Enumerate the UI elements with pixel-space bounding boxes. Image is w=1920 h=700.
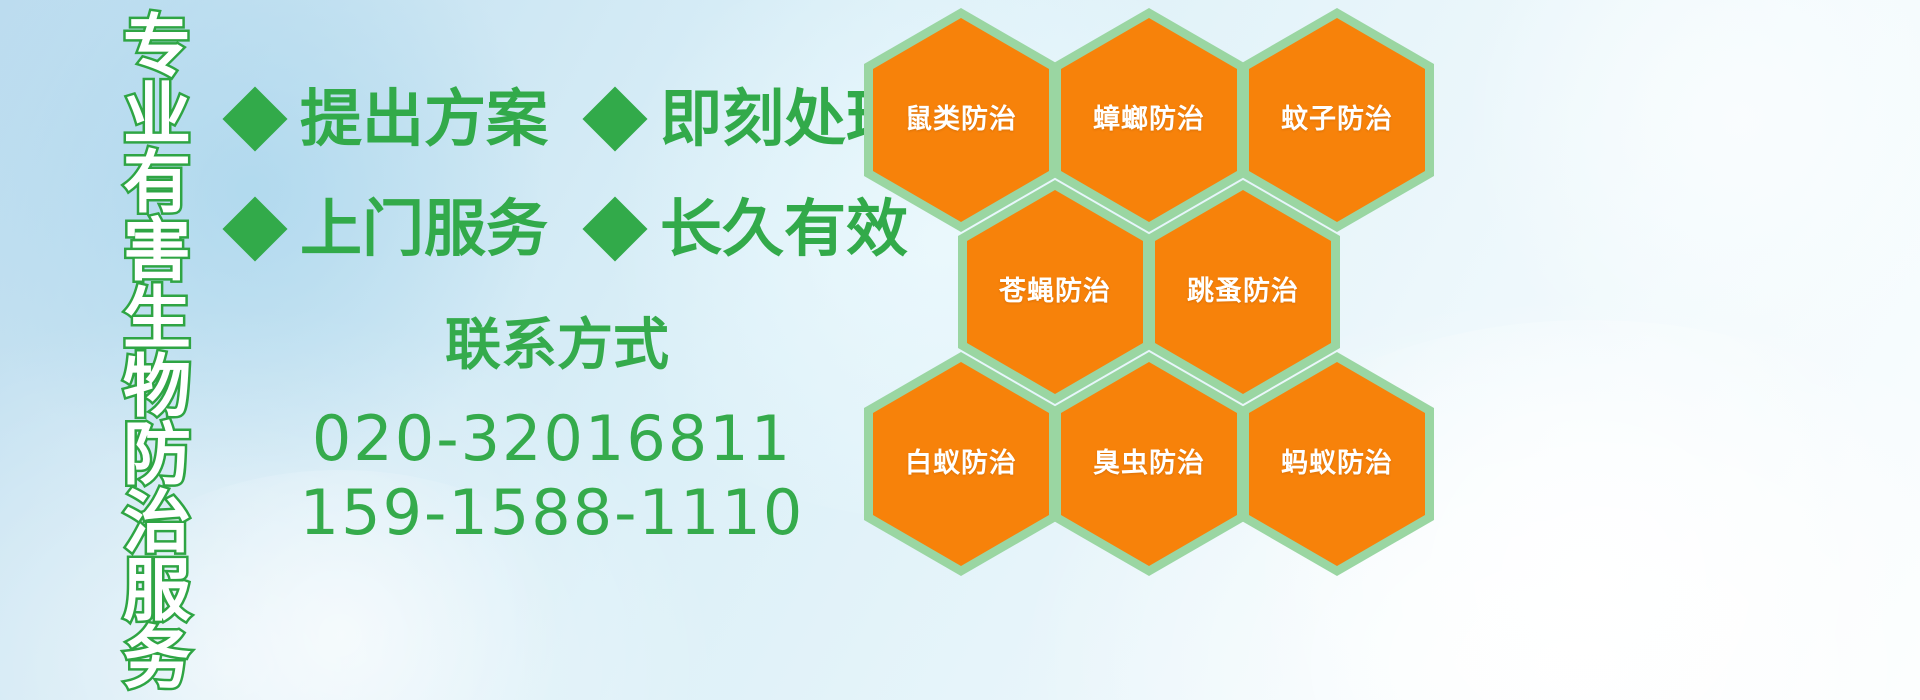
vertical-slogan: 专 业 有 害 生 物 防 治 服 务 xyxy=(104,14,210,694)
hex-inner: 蚂蚁防治 xyxy=(1249,362,1425,566)
hex-inner: 跳蚤防治 xyxy=(1155,190,1331,394)
vertical-slogan-char-7: 防 xyxy=(123,422,191,490)
hex-inner: 鼠类防治 xyxy=(873,18,1049,222)
service-label-fly: 苍蝇防治 xyxy=(999,277,1111,307)
contact-phone-mobile[interactable]: 159-1588-1110 xyxy=(232,476,872,550)
feature-row-2: 上门服务 长久有效 xyxy=(232,198,926,260)
hex-inner: 蟑螂防治 xyxy=(1061,18,1237,222)
hex-inner: 臭虫防治 xyxy=(1061,362,1237,566)
contact-block: 联系方式 020-32016811 159-1588-1110 xyxy=(232,318,872,550)
promo-banner: 专 业 有 害 生 物 防 治 服 务 提出方案 即刻处理 上门服务 长久有效 … xyxy=(0,0,1920,700)
diamond-bullet-icon xyxy=(222,196,287,261)
service-label-ant: 蚂蚁防治 xyxy=(1281,449,1393,479)
service-honeycomb-grid: 鼠类防治 蟑螂防治 蚊子防治 苍蝇防治 跳蚤防治 白蚁防治 xyxy=(856,0,1456,700)
diamond-bullet-icon xyxy=(582,196,647,261)
vertical-slogan-char-8: 治 xyxy=(123,490,191,558)
diamond-bullet-icon xyxy=(582,86,647,151)
vertical-slogan-char-9: 服 xyxy=(123,558,191,626)
feature-label-propose-plan: 提出方案 xyxy=(300,88,548,150)
vertical-slogan-char-5: 生 xyxy=(123,286,191,354)
hex-inner: 白蚁防治 xyxy=(873,362,1049,566)
service-label-bedbug: 臭虫防治 xyxy=(1093,449,1205,479)
service-label-mosquito: 蚊子防治 xyxy=(1281,105,1393,135)
vertical-slogan-char-10: 务 xyxy=(123,626,191,694)
service-label-termite: 白蚁防治 xyxy=(905,449,1017,479)
vertical-slogan-char-4: 害 xyxy=(123,218,191,286)
service-label-rodent: 鼠类防治 xyxy=(905,105,1017,135)
vertical-slogan-char-2: 业 xyxy=(123,82,191,150)
contact-title: 联系方式 xyxy=(232,318,872,374)
contact-phone-landline[interactable]: 020-32016811 xyxy=(232,402,872,476)
hex-inner: 苍蝇防治 xyxy=(967,190,1143,394)
hex-inner: 蚊子防治 xyxy=(1249,18,1425,222)
service-label-cockroach: 蟑螂防治 xyxy=(1093,105,1205,135)
vertical-slogan-char-1: 专 xyxy=(123,14,191,82)
vertical-slogan-char-6: 物 xyxy=(123,354,191,422)
feature-row-1: 提出方案 即刻处理 xyxy=(232,88,926,150)
vertical-slogan-char-3: 有 xyxy=(123,150,191,218)
background-glow-top-right xyxy=(1460,0,1920,380)
diamond-bullet-icon xyxy=(222,86,287,151)
feature-label-onsite-service: 上门服务 xyxy=(300,198,548,260)
service-label-flea: 跳蚤防治 xyxy=(1187,277,1299,307)
